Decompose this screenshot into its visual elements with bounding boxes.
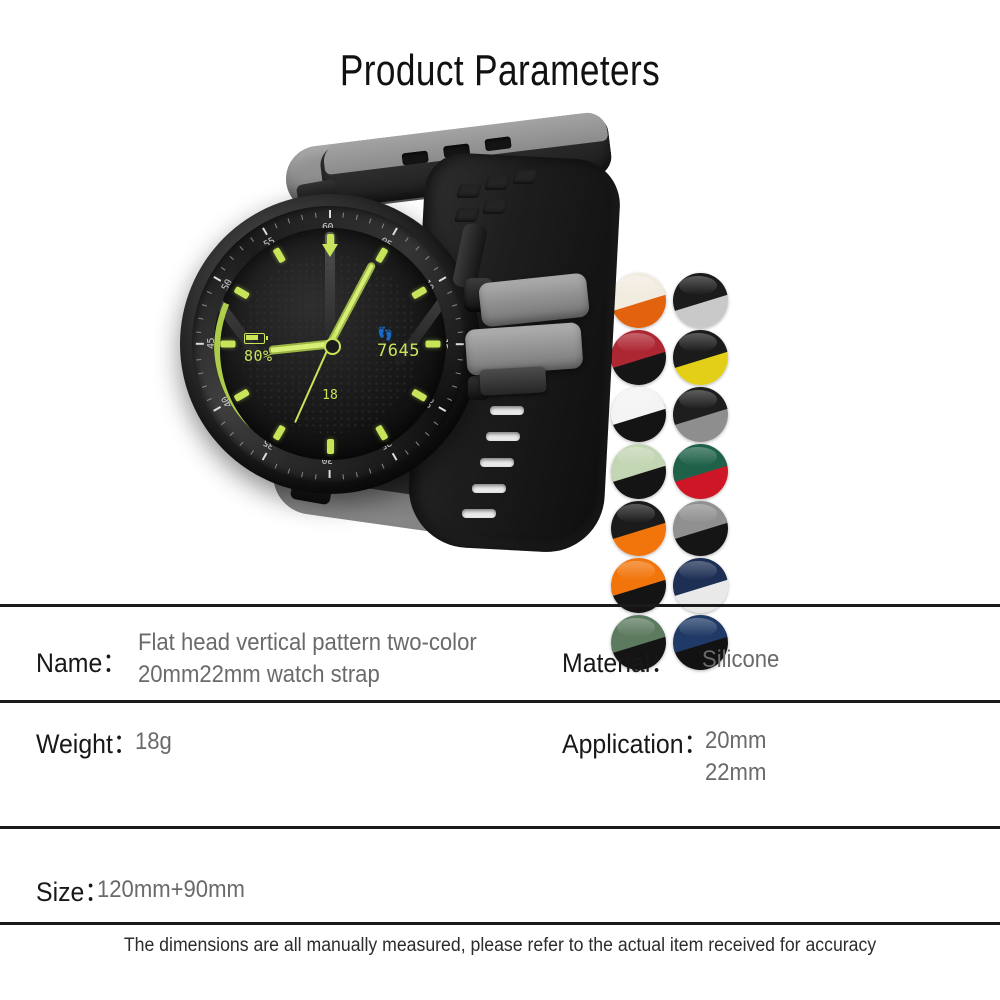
bezel-tick [221,267,226,271]
bezel-tick [329,470,331,478]
dial-date-complication: 18 [312,388,348,403]
bezel-tick [447,398,452,401]
hour-marker [327,234,334,249]
bezel-tick [343,213,345,218]
bezel-tick [315,213,317,218]
table-row: Size： 120mm+90mm [0,826,1000,922]
bezel-tick [392,228,397,236]
row-value-weight: 18g [135,726,172,758]
color-swatch-gray-black[interactable] [673,501,728,556]
bezel-tick [405,237,409,242]
strap-bump [456,184,482,198]
strap-bump [484,176,510,190]
bezel-tick [456,372,461,374]
table-row: Weight： 18g Application： 20mm 22mm [0,700,1000,826]
row-label-name: Name： [36,641,127,680]
hour-marker [425,341,440,348]
bezel-tick [434,267,439,271]
bezel-tick [262,453,267,461]
watch-dial: 80% 👣 7645 18 [214,228,446,460]
bezel-tick [452,304,457,306]
battery-icon [244,333,265,344]
product-hero: 051015202530354045505560 80% 👣 7645 18 [0,120,1000,600]
row-label-weight: Weight： [36,722,138,761]
bezel-tick [343,474,345,479]
row-value-name: Flat head vertical pattern two-color 20m… [138,627,477,691]
dial-steps-complication: 👣 7645 [377,328,420,361]
strap-hole [472,484,506,493]
bezel-tick [356,472,358,477]
color-swatch-black-yellow[interactable] [673,330,728,385]
buckle-tab [479,366,546,395]
bezel-tick [214,276,222,281]
color-swatch-black-orange[interactable] [611,501,666,556]
bezel-tick [275,464,278,469]
bezel-tick [458,359,463,361]
bezel-tick [382,464,385,469]
bezel-tick [288,469,290,474]
bezel-tick [199,372,204,374]
strap-hole [462,509,496,518]
bezel-tick [196,359,201,361]
bezel-tick [262,228,267,236]
bezel-tick [301,472,303,477]
bezel-tick [456,343,464,345]
strap-bump [482,200,508,214]
bezel-tick [207,291,212,294]
bezel-tick [382,223,385,228]
bezel-tick [369,218,371,223]
bezel-tick [240,442,244,446]
table-rule [0,922,1000,925]
bezel-tick [456,318,461,320]
bezel-tick [207,398,212,401]
bezel-tick [447,291,452,294]
bezel-tick [416,246,420,250]
bezel-tick [199,318,204,320]
watch-case: 051015202530354045505560 80% 👣 7645 18 [180,194,480,494]
watch-product-image: 051015202530354045505560 80% 👣 7645 18 [180,130,600,580]
hour-marker [220,341,235,348]
table-row: Name： Flat head vertical pattern two-col… [0,604,1000,700]
strap-hole [480,458,514,467]
color-swatch-green-red[interactable] [673,444,728,499]
bezel-tick [251,237,255,242]
color-swatch-sage-black[interactable] [611,444,666,499]
strap-hole [490,406,524,415]
bezel-tick [458,331,463,333]
color-swatch-black-gray[interactable] [673,387,728,442]
steps-count-text: 7645 [377,341,420,361]
bezel-tick [405,450,409,455]
bezel-tick [240,246,244,250]
bezel-tick [439,276,447,281]
bezel-tick [230,432,234,436]
color-swatch-orange-cream[interactable] [611,273,666,328]
bezel-tick [301,215,303,220]
bezel-tick [202,304,207,306]
color-swatch-red-black[interactable] [611,330,666,385]
bezel-tick [315,474,317,479]
bezel-tick [329,210,331,218]
bezel-tick [452,385,457,387]
bezel-tick [251,450,255,455]
bezel-tick [230,256,234,260]
strap-bump [512,170,538,184]
bezel-tick [425,256,429,260]
row-value-size: 120mm+90mm [97,874,245,906]
strap-hole [486,432,520,441]
hand-center-cap [324,338,341,355]
row-label-application: Application： [562,722,708,761]
strap-bump [454,208,480,222]
footer-note: The dimensions are all manually measured… [35,935,965,957]
page-title: Product Parameters [100,45,900,97]
bezel-tick [196,331,201,333]
bezel-tick [356,215,358,220]
hour-marker [327,439,334,454]
bezel-tick [416,442,420,446]
row-value-application: 20mm 22mm [705,725,766,789]
bezel-tick [214,406,222,411]
color-swatch-white-black[interactable] [611,387,666,442]
bezel-tick [288,218,290,223]
color-swatch-black-silver[interactable] [673,273,728,328]
row-label-material: Material： [562,641,675,680]
bezel-tick [275,223,278,228]
footprint-icon: 👣 [377,328,420,341]
bezel-tick [202,385,207,387]
row-value-material: Silicone [702,644,779,676]
bezel-tick [369,469,371,474]
bezel-tick [196,343,204,345]
